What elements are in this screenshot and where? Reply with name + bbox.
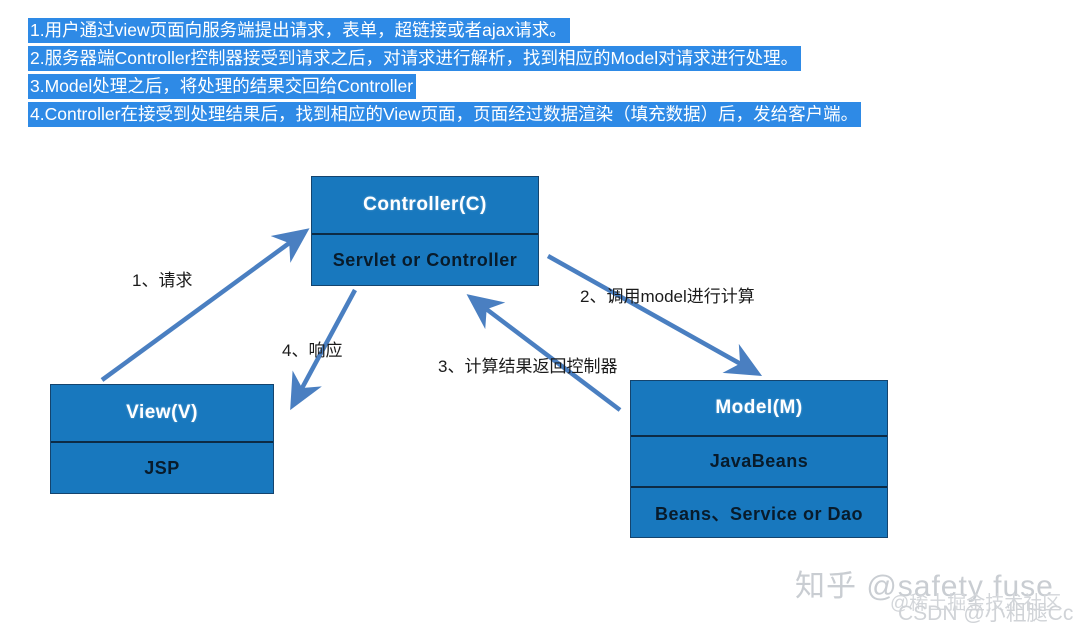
node-controller[interactable]: Controller(C) Servlet or Controller xyxy=(311,176,539,286)
watermark-zhihu: 知乎 @safety fuse xyxy=(795,561,1054,605)
edge-label-response: 4、响应 xyxy=(282,336,342,361)
edge-label-call-model: 2、调用model进行计算 xyxy=(580,282,755,307)
node-view-title: View(V) xyxy=(51,385,273,441)
node-controller-title: Controller(C) xyxy=(312,177,538,233)
node-controller-subtitle: Servlet or Controller xyxy=(312,233,538,285)
note-text-1: 1.用户通过view页面向服务端提出请求，表单，超链接或者ajax请求。 xyxy=(28,18,570,43)
explanation-notes: 1.用户通过view页面向服务端提出请求，表单，超链接或者ajax请求。 2.服… xyxy=(0,0,1077,144)
watermark-juejin: @稀土掘金技术社区 xyxy=(890,588,1061,615)
note-text-2: 2.服务器端Controller控制器接受到请求之后，对请求进行解析，找到相应的… xyxy=(28,46,801,71)
node-model-title: Model(M) xyxy=(631,381,887,435)
node-model-subtitle: JavaBeans xyxy=(631,435,887,486)
note-line-3: 3.Model处理之后，将处理的结果交回给Controller xyxy=(28,74,1077,99)
node-view[interactable]: View(V) JSP xyxy=(50,384,274,494)
note-line-2: 2.服务器端Controller控制器接受到请求之后，对请求进行解析，找到相应的… xyxy=(28,46,1077,71)
node-model-subtitle-2: Beans、Service or Dao xyxy=(631,486,887,537)
note-text-4: 4.Controller在接受到处理结果后，找到相应的View页面，页面经过数据… xyxy=(28,102,861,127)
note-line-1: 1.用户通过view页面向服务端提出请求，表单，超链接或者ajax请求。 xyxy=(28,18,1077,43)
arrow-request xyxy=(102,233,303,380)
note-line-4: 4.Controller在接受到处理结果后，找到相应的View页面，页面经过数据… xyxy=(28,102,1077,127)
node-model[interactable]: Model(M) JavaBeans Beans、Service or Dao xyxy=(630,380,888,538)
node-view-subtitle: JSP xyxy=(51,441,273,493)
watermark-csdn: CSDN @小粗腿Cc xyxy=(898,597,1073,627)
note-text-3: 3.Model处理之后，将处理的结果交回给Controller xyxy=(28,74,416,99)
edge-label-request: 1、请求 xyxy=(132,266,192,291)
mvc-flow-diagram: Controller(C) Servlet or Controller View… xyxy=(20,150,885,555)
edge-label-result-return: 3、计算结果返回控制器 xyxy=(438,352,617,377)
